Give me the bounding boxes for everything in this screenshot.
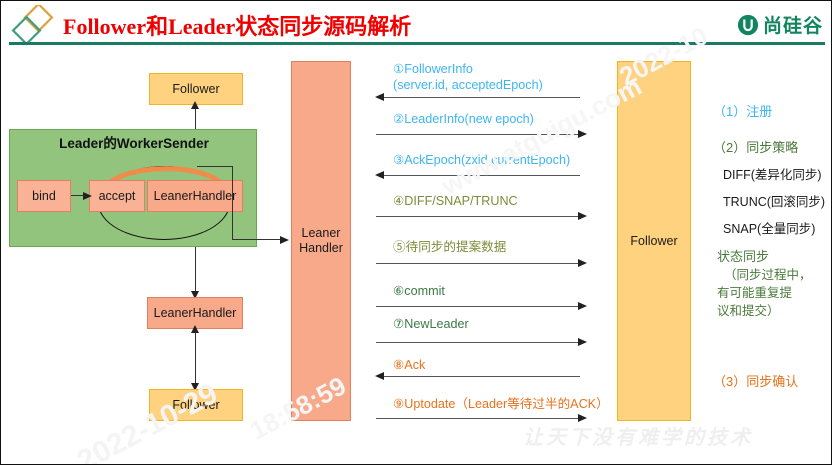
message-line-1	[382, 97, 580, 98]
leaner-handler-lifeline: Leaner Handler	[291, 61, 351, 421]
arrow-head-5	[578, 259, 587, 267]
arrow-head-1	[375, 93, 384, 101]
lifeline-label-line1: Leaner	[299, 226, 343, 241]
note-step-3: （3）同步确认	[713, 373, 798, 392]
message-line-9	[376, 418, 579, 419]
message-label-3: ③AckEpoch(zxid,currentEpoch)	[393, 153, 570, 167]
message-label-8: ⑧Ack	[393, 358, 425, 372]
arrow-head-to-lifeline	[280, 236, 289, 244]
connector-elbow-v	[232, 166, 233, 240]
slide-header: Follower和Leader状态同步源码解析 尚硅谷	[1, 1, 832, 47]
note-state-sync-body: （同步过程中， 有可能重复提 议和提交）	[717, 266, 811, 320]
message-line-6	[376, 306, 579, 307]
brand-name: 尚硅谷	[763, 11, 823, 38]
arrow-head-8	[375, 372, 384, 380]
arrow-head-bind-accept	[83, 192, 92, 200]
worker-sender-title: Leader的WorkerSender	[10, 136, 258, 152]
message-label-7: ⑦NewLeader	[393, 317, 469, 331]
message-line-8	[382, 376, 580, 377]
message-label-6: ⑥commit	[393, 284, 445, 298]
message-label-1b: (server.id, acceptedEpoch)	[393, 78, 543, 92]
note-step-2: （2）同步策略	[713, 139, 798, 158]
note-trunc: TRUNC(回滚同步)	[723, 193, 825, 211]
message-label-9: ⑨Uptodate（Leader等待过半的ACK）	[393, 397, 609, 411]
message-label-1: ①FollowerInfo	[393, 62, 473, 76]
follower-lifeline: Follower	[617, 61, 691, 421]
accept-box: accept	[89, 180, 145, 212]
arrow-head-2	[578, 130, 587, 138]
message-label-5: ⑤待同步的提案数据	[393, 240, 506, 254]
header-divider	[9, 42, 825, 45]
note-snap: SNAP(全量同步)	[723, 220, 815, 238]
arrow-head-up-2	[191, 325, 199, 333]
follower-bottom-box: Follower	[149, 389, 243, 421]
note-step-1: （1）注册	[713, 103, 772, 122]
message-line-7	[376, 342, 579, 343]
page-title: Follower和Leader状态同步源码解析	[63, 9, 411, 41]
message-line-5	[376, 263, 579, 264]
connector-elbow-h1	[197, 166, 233, 167]
message-label-4: ④DIFF/SNAP/TRUNC	[393, 194, 518, 208]
arrow-head-up	[191, 101, 199, 109]
bind-box: bind	[17, 180, 71, 212]
message-label-2: ②LeaderInfo(new epoch)	[393, 112, 534, 126]
lifeline-label-line2: Handler	[299, 241, 343, 256]
note-diff: DIFF(差异化同步)	[723, 166, 822, 184]
slide-canvas: Follower和Leader状态同步源码解析 尚硅谷 Follower Lea…	[0, 0, 832, 465]
diamond-pair-icon	[9, 5, 61, 47]
connector-lh2-follower	[195, 329, 196, 389]
watermark-tagline: 让天下没有难学的技术	[523, 421, 753, 450]
arrow-head-3	[375, 171, 384, 179]
note-state-sync-title: 状态同步	[717, 248, 769, 267]
message-line-3	[382, 175, 580, 176]
arrow-head-9	[578, 414, 587, 422]
connector-elbow-h2	[232, 239, 282, 240]
u-circle-icon	[737, 14, 759, 36]
leaner-handler-box-1: LeanerHandler	[147, 180, 243, 212]
arrow-head-4	[578, 212, 587, 220]
message-line-4	[376, 216, 579, 217]
arrow-head-6	[578, 302, 587, 310]
arrow-head-7	[578, 338, 587, 346]
brand-logo: 尚硅谷	[737, 11, 823, 38]
message-line-2	[376, 134, 579, 135]
